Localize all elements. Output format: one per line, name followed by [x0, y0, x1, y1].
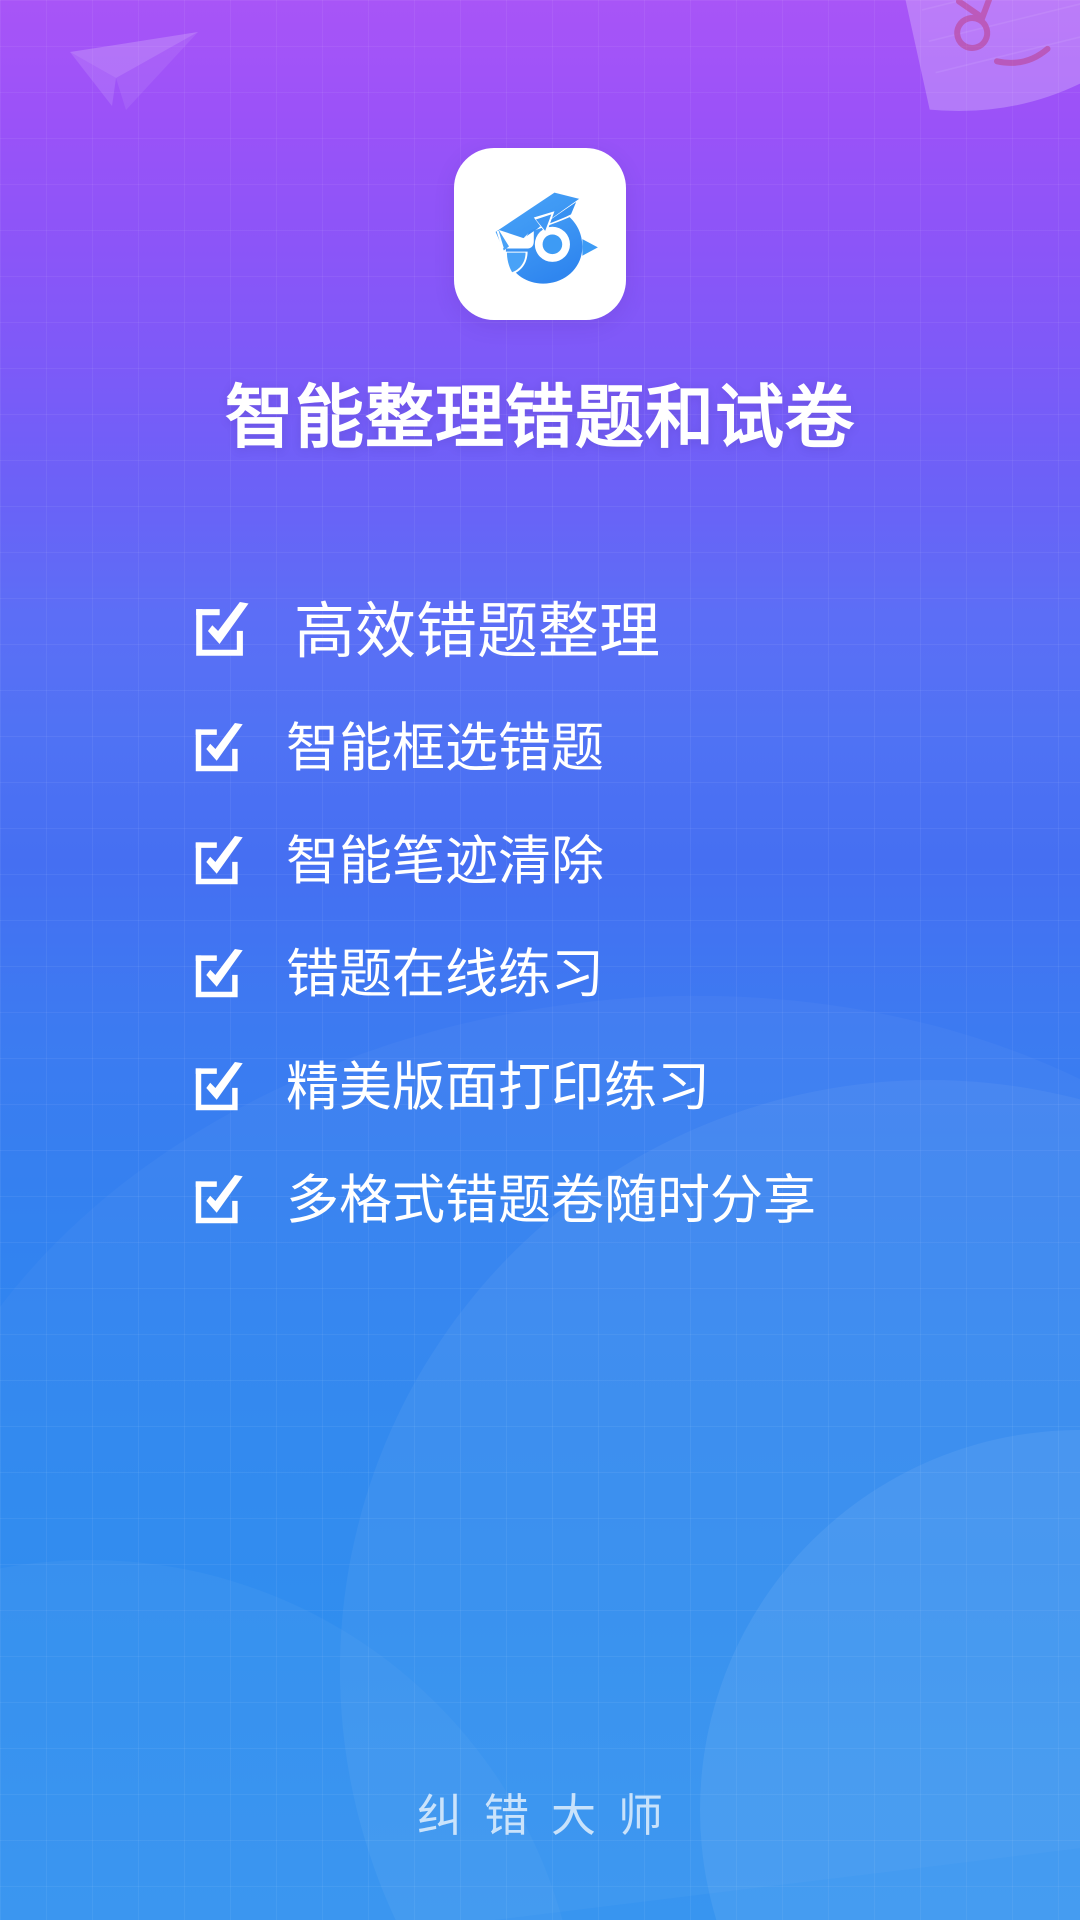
checkbox-checked-icon — [192, 1175, 244, 1227]
feature-list: 高效错题整理 智能框选错题 智能笔迹清除 错题在线练 — [192, 570, 952, 1257]
list-item: 智能笔迹清除 — [192, 805, 952, 918]
checkbox-checked-icon — [192, 1062, 244, 1114]
list-item: 智能框选错题 — [192, 692, 952, 805]
checkbox-checked-icon — [192, 723, 244, 775]
list-item: 多格式错题卷随时分享 — [192, 1144, 952, 1257]
list-item-label: 智能笔迹清除 — [286, 835, 604, 888]
list-item-label: 高效错题整理 — [294, 601, 660, 662]
checkbox-checked-icon — [192, 602, 250, 660]
background-blob-small — [700, 1430, 1080, 1920]
checkbox-checked-icon — [192, 836, 244, 888]
list-item-label: 错题在线练习 — [286, 948, 604, 1001]
list-item: 高效错题整理 — [192, 570, 952, 692]
brand-wordmark: 纠错大师 — [0, 1779, 1080, 1844]
list-item-label: 智能框选错题 — [286, 722, 604, 775]
marked-exam-paper-icon — [884, 0, 1080, 138]
page-title: 智能整理错题和试卷 — [0, 378, 1080, 457]
list-item: 错题在线练习 — [192, 918, 952, 1031]
graduation-owl-icon — [454, 148, 626, 320]
list-item-label: 多格式错题卷随时分享 — [286, 1174, 816, 1227]
app-splash-screen: 智能整理错题和试卷 高效错题整理 智能框选错题 — [0, 0, 1080, 1920]
list-item: 精美版面打印练习 — [192, 1031, 952, 1144]
checkbox-checked-icon — [192, 949, 244, 1001]
paper-plane-icon — [48, 14, 198, 124]
background-blob-left — [0, 1560, 580, 1920]
list-item-label: 精美版面打印练习 — [286, 1061, 710, 1114]
app-icon-container — [0, 148, 1080, 320]
